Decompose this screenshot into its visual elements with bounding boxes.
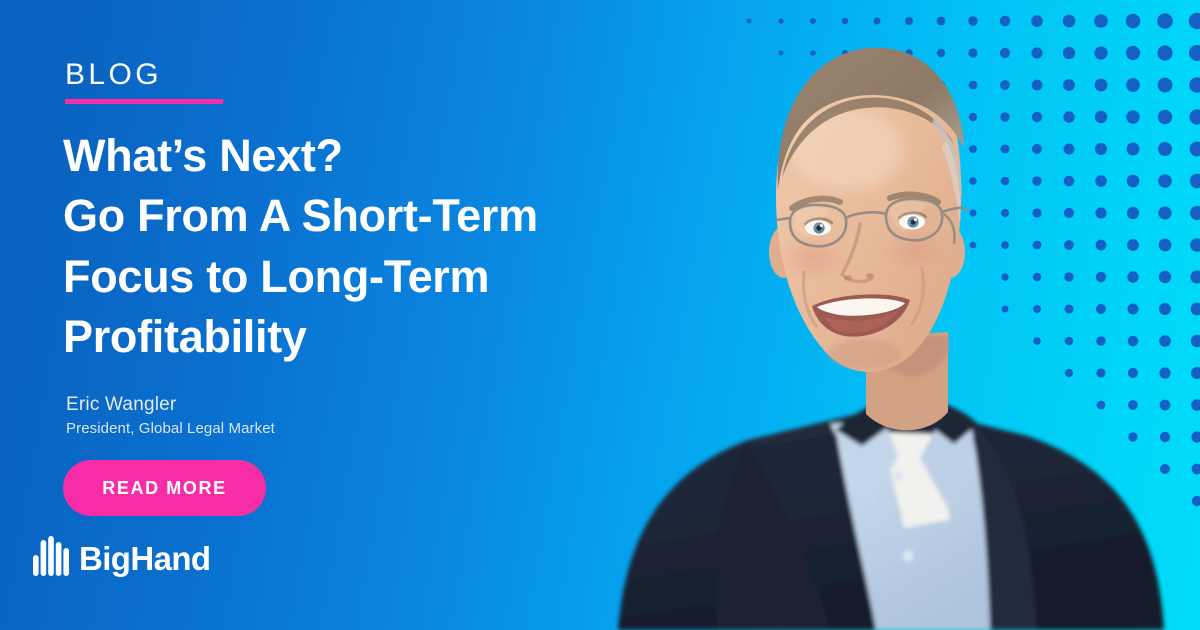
author-byline: Eric Wangler President, Global Legal Mar… (66, 393, 275, 438)
author-role: President, Global Legal Market (66, 419, 275, 439)
headline-line-3: Focus to Long-Term (63, 247, 653, 307)
portrait-photo (598, 0, 1200, 630)
read-more-button[interactable]: READ MORE (63, 460, 266, 516)
page-title: What’s Next? Go From A Short-Term Focus … (63, 126, 653, 367)
eyebrow-label: BLOG (65, 60, 162, 90)
bighand-logo[interactable]: BigHand (33, 536, 210, 581)
bighand-wordmark: BigHand (79, 542, 210, 575)
eyebrow-underline (65, 99, 223, 104)
blog-promo-banner: BLOG What’s Next? Go From A Short-Term F… (0, 0, 1200, 630)
headline-line-1: What’s Next? (63, 126, 653, 186)
bighand-bars-icon (33, 536, 70, 581)
banner-content: BLOG What’s Next? Go From A Short-Term F… (0, 0, 660, 630)
headline-line-4: Profitability (63, 307, 653, 367)
author-name: Eric Wangler (66, 393, 275, 417)
headline-line-2: Go From A Short-Term (63, 186, 653, 246)
